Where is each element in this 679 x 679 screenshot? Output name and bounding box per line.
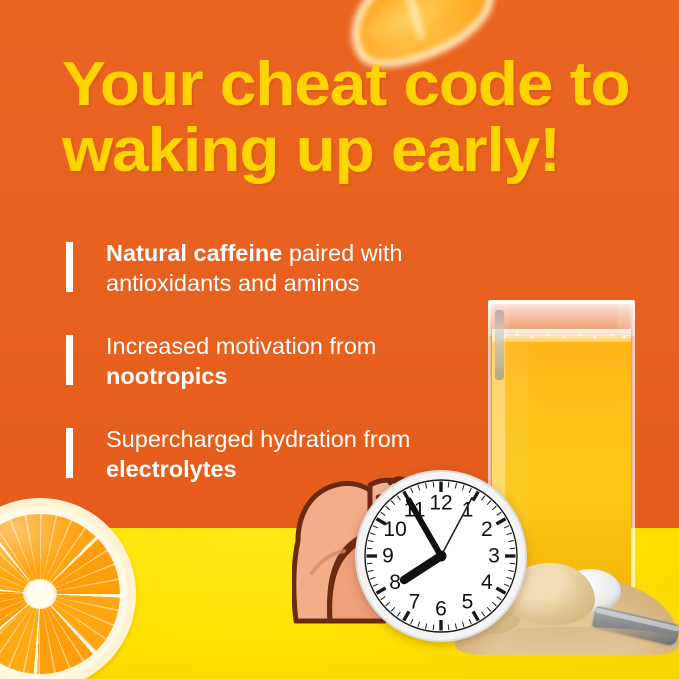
benefits-list: Natural caffeine paired with antioxidant… bbox=[62, 238, 482, 484]
orange-slice-icon bbox=[0, 498, 136, 679]
wall-clock-icon: 121234567891011 bbox=[355, 470, 527, 642]
svg-text:7: 7 bbox=[409, 590, 421, 613]
svg-text:1: 1 bbox=[462, 499, 474, 522]
orange-slice-core bbox=[23, 579, 57, 609]
svg-text:4: 4 bbox=[481, 571, 493, 594]
svg-text:6: 6 bbox=[435, 598, 447, 621]
glass-rim-edge bbox=[488, 300, 635, 304]
list-item: Increased motivation from nootropics bbox=[62, 331, 482, 391]
benefit-emphasis: electrolytes bbox=[106, 456, 237, 482]
benefit-text: Increased motivation from nootropics bbox=[106, 331, 482, 391]
benefit-emphasis: nootropics bbox=[106, 363, 227, 389]
svg-text:9: 9 bbox=[382, 545, 394, 568]
glass-rim bbox=[488, 300, 635, 336]
page-title: Your cheat code to waking up early! bbox=[62, 52, 677, 184]
benefit-emphasis: Natural caffeine bbox=[106, 240, 282, 266]
list-item: Natural caffeine paired with antioxidant… bbox=[62, 238, 482, 298]
svg-text:5: 5 bbox=[462, 590, 474, 613]
svg-text:3: 3 bbox=[488, 545, 500, 568]
promo-banner: Your cheat code to waking up early! Natu… bbox=[0, 0, 679, 679]
benefit-lead: Supercharged hydration from bbox=[106, 426, 410, 452]
bullet-bar-icon bbox=[66, 428, 73, 478]
benefit-lead: Increased motivation from bbox=[106, 333, 376, 359]
svg-text:8: 8 bbox=[389, 571, 401, 594]
svg-text:12: 12 bbox=[429, 492, 452, 515]
benefit-text: Natural caffeine paired with antioxidant… bbox=[106, 238, 482, 298]
bullet-bar-icon bbox=[66, 335, 73, 385]
glass-side-highlight bbox=[495, 310, 504, 380]
bullet-bar-icon bbox=[66, 242, 73, 292]
svg-text:2: 2 bbox=[481, 518, 493, 541]
